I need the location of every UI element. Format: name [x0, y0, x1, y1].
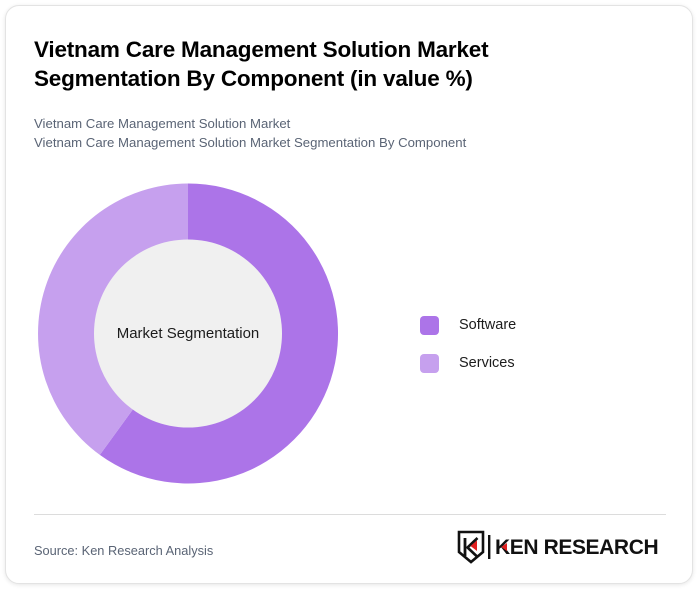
donut-chart-svg [33, 178, 343, 489]
legend-label-services: Services [459, 355, 515, 371]
page-title: Vietnam Care Management Solution Market … [34, 35, 594, 93]
donut-chart: Market Segmentation [33, 178, 343, 489]
ken-research-logo: KEN RESEARCH [456, 530, 670, 564]
subtitle-line-1: Vietnam Care Management Solution Market [34, 114, 634, 133]
chart-card: Vietnam Care Management Solution Market … [5, 5, 693, 584]
donut-hole [94, 240, 282, 428]
svg-text:KEN RESEARCH: KEN RESEARCH [495, 536, 658, 559]
footer-divider [34, 514, 666, 515]
legend-swatch-services [420, 354, 439, 373]
ken-research-logo-mark-icon [456, 530, 486, 564]
legend-label-software: Software [459, 317, 516, 333]
legend-item-services[interactable]: Services [420, 344, 600, 382]
subtitle-line-2: Vietnam Care Management Solution Market … [34, 133, 634, 152]
ken-research-logo-text: KEN RESEARCH [488, 534, 670, 560]
legend-swatch-software [420, 316, 439, 335]
source-text: Source: Ken Research Analysis [34, 543, 213, 558]
chart-legend: Software Services [420, 306, 600, 382]
legend-item-software[interactable]: Software [420, 306, 600, 344]
